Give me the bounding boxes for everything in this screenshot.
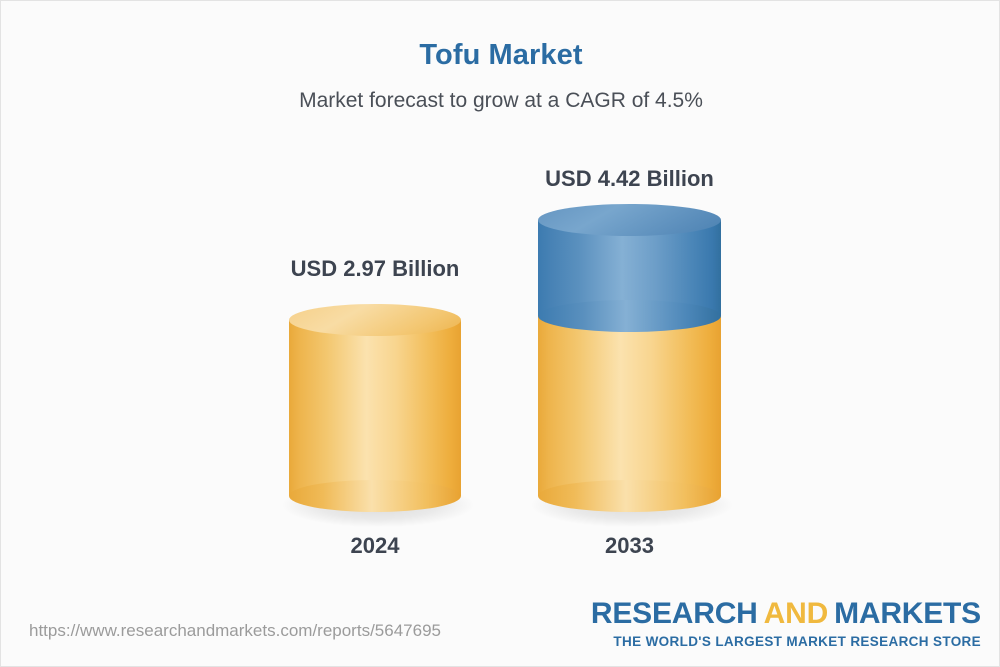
logo-word-research: RESEARCH bbox=[591, 597, 758, 630]
bar-segment-growth-2033 bbox=[538, 220, 721, 316]
bar-cylinder-2024 bbox=[289, 304, 461, 509]
bar-value-label-2024: USD 2.97 Billion bbox=[289, 256, 461, 282]
source-url[interactable]: https://www.researchandmarkets.com/repor… bbox=[29, 621, 441, 641]
brand-logo[interactable]: RESEARCHANDMARKETS THE WORLD'S LARGEST M… bbox=[591, 599, 981, 649]
cylinder-bottom-cap bbox=[289, 480, 461, 512]
cylinder-top-cap bbox=[289, 304, 461, 336]
bar-category-label-2033: 2033 bbox=[538, 533, 721, 559]
cylinder-bottom-cap bbox=[538, 480, 721, 512]
cylinder-body bbox=[538, 316, 721, 496]
bar-value-label-2033: USD 4.42 Billion bbox=[538, 166, 721, 192]
bar-cylinder-2033 bbox=[538, 204, 721, 509]
logo-word-markets: MARKETS bbox=[834, 597, 981, 630]
bar-group-2024: USD 2.97 Billion 2024 bbox=[289, 1, 461, 601]
cylinder-top-cap bbox=[538, 204, 721, 236]
cylinder-bottom-cap bbox=[538, 300, 721, 332]
bar-segment-base-2024 bbox=[289, 320, 461, 496]
logo-word-and: AND bbox=[764, 597, 828, 630]
logo-tagline: THE WORLD'S LARGEST MARKET RESEARCH STOR… bbox=[591, 634, 981, 649]
chart-plot-area: USD 2.97 Billion 2024 USD 4.42 Billion bbox=[1, 1, 1000, 601]
bar-segment-base-2033 bbox=[538, 316, 721, 496]
cylinder-body bbox=[289, 320, 461, 496]
logo-wordmark: RESEARCHANDMARKETS bbox=[591, 599, 981, 629]
infographic-canvas: Tofu Market Market forecast to grow at a… bbox=[0, 0, 1000, 667]
bar-group-2033: USD 4.42 Billion 2033 bbox=[538, 1, 721, 601]
bar-category-label-2024: 2024 bbox=[289, 533, 461, 559]
